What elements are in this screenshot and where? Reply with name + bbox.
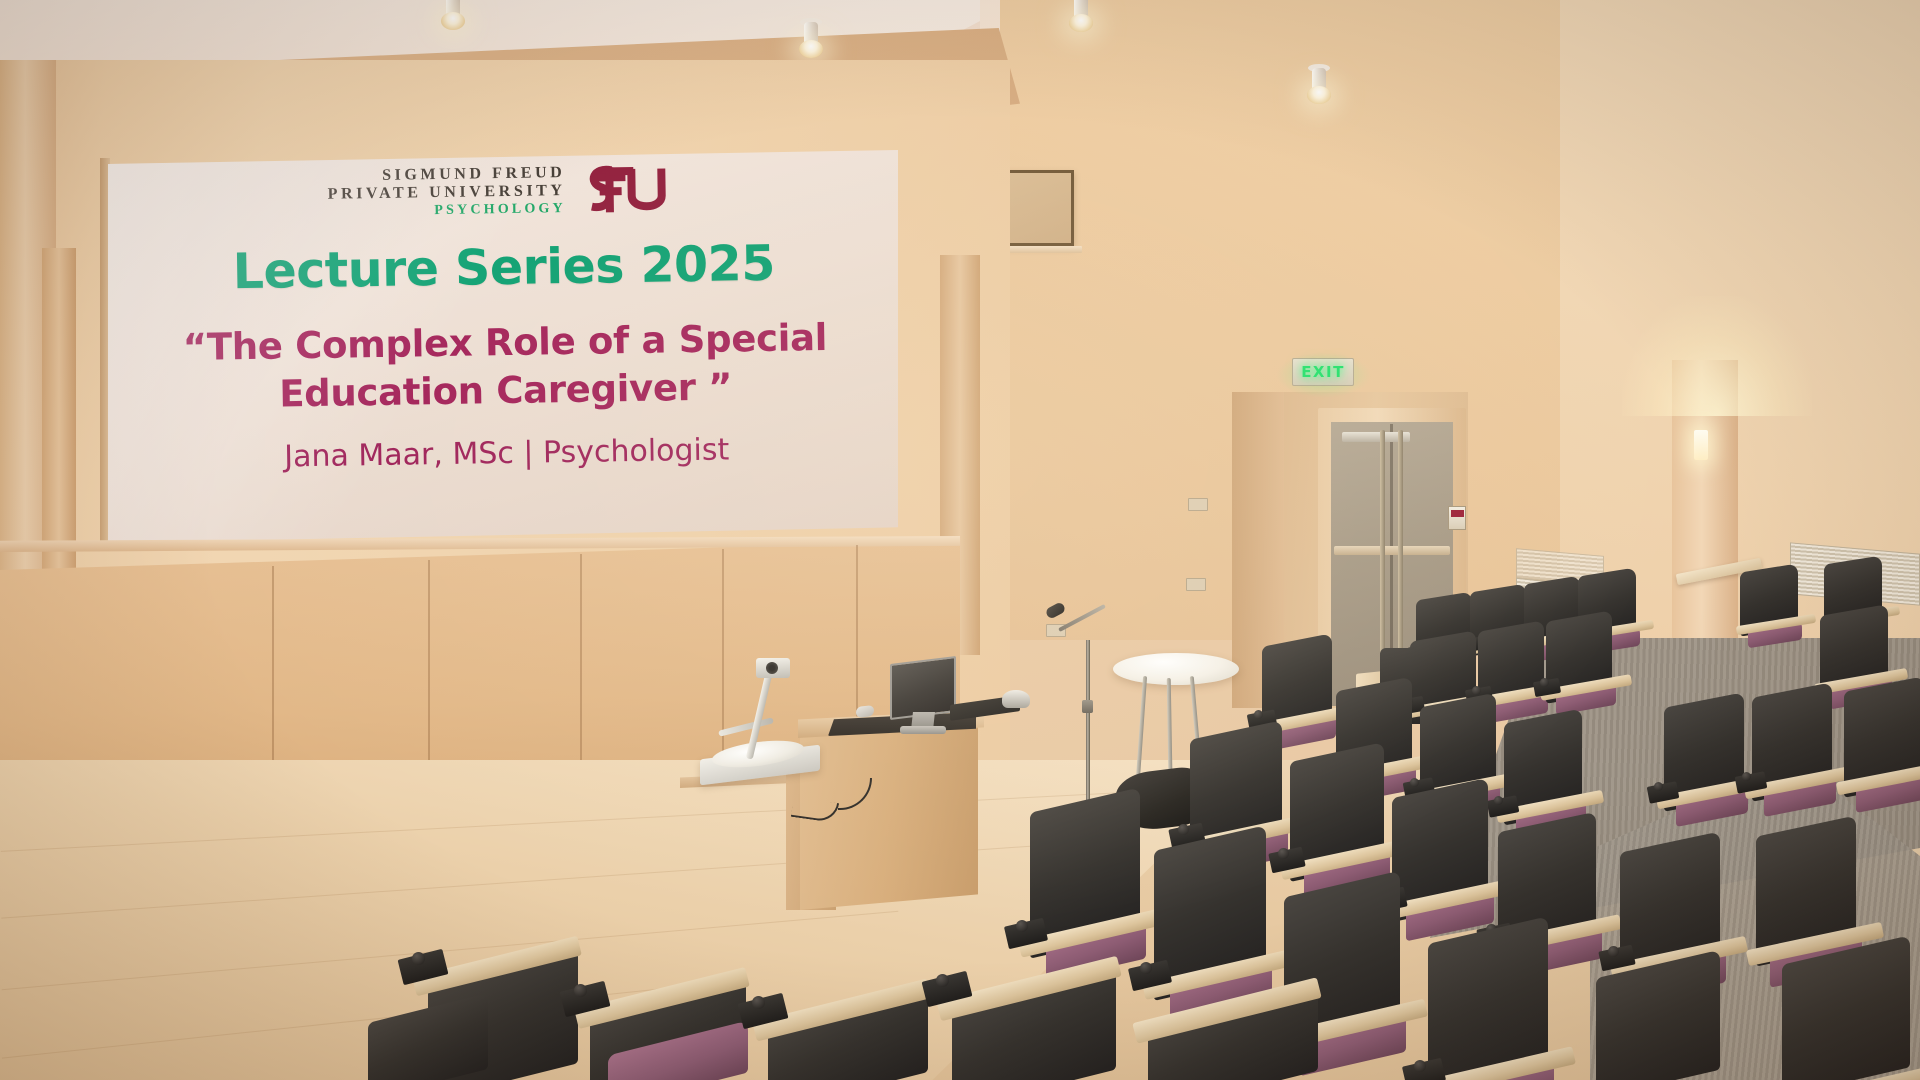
monitor-base <box>900 726 946 734</box>
panic-bar[interactable] <box>1334 546 1450 555</box>
high-top-table <box>1113 653 1239 685</box>
exit-sign: EXIT <box>1292 358 1354 386</box>
wall-notice-sign <box>1448 506 1466 530</box>
document-camera-lens-icon <box>766 662 778 674</box>
microphone-height-clamp[interactable] <box>1082 700 1093 713</box>
ceiling-spotlight-icon <box>1306 68 1332 108</box>
logo-wordmark: SIGMUND FREUD PRIVATE UNIVERSITY PSYCHOL… <box>327 165 566 220</box>
sconce-column <box>1672 360 1738 660</box>
slide-speaker-credit: Jana Maar, MSc | Psychologist <box>122 430 892 477</box>
sfu-monogram-icon <box>581 159 678 219</box>
exit-sign-label: EXIT <box>1301 363 1345 381</box>
lectern-lamp[interactable] <box>1002 690 1030 708</box>
wall-outlet <box>1188 498 1208 511</box>
presentation-slide: SIGMUND FREUD PRIVATE UNIVERSITY PSYCHOL… <box>117 152 893 534</box>
slide-talk-title: “The Complex Role of a Special Education… <box>120 313 891 420</box>
ceiling-spotlight-icon <box>798 22 824 62</box>
lecture-hall-scene: SIGMUND FREUD PRIVATE UNIVERSITY PSYCHOL… <box>0 0 1920 1080</box>
row-end-panel <box>0 0 48 107</box>
logo-line-1: SIGMUND FREUD <box>327 165 565 185</box>
ceiling-spotlight-icon <box>440 0 466 34</box>
university-logo: SIGMUND FREUD PRIVATE UNIVERSITY PSYCHOL… <box>117 156 888 226</box>
slide-series-title: Lecture Series 2025 <box>118 236 889 300</box>
wall-sconce-light <box>1694 430 1708 460</box>
lectern-monitor[interactable] <box>890 656 956 720</box>
ceiling-spotlight-icon <box>1068 0 1094 36</box>
wall-outlet <box>1186 578 1206 591</box>
logo-line-2: PRIVATE UNIVERSITY <box>328 183 566 203</box>
logo-line-3: PSYCHOLOGY <box>328 202 566 220</box>
